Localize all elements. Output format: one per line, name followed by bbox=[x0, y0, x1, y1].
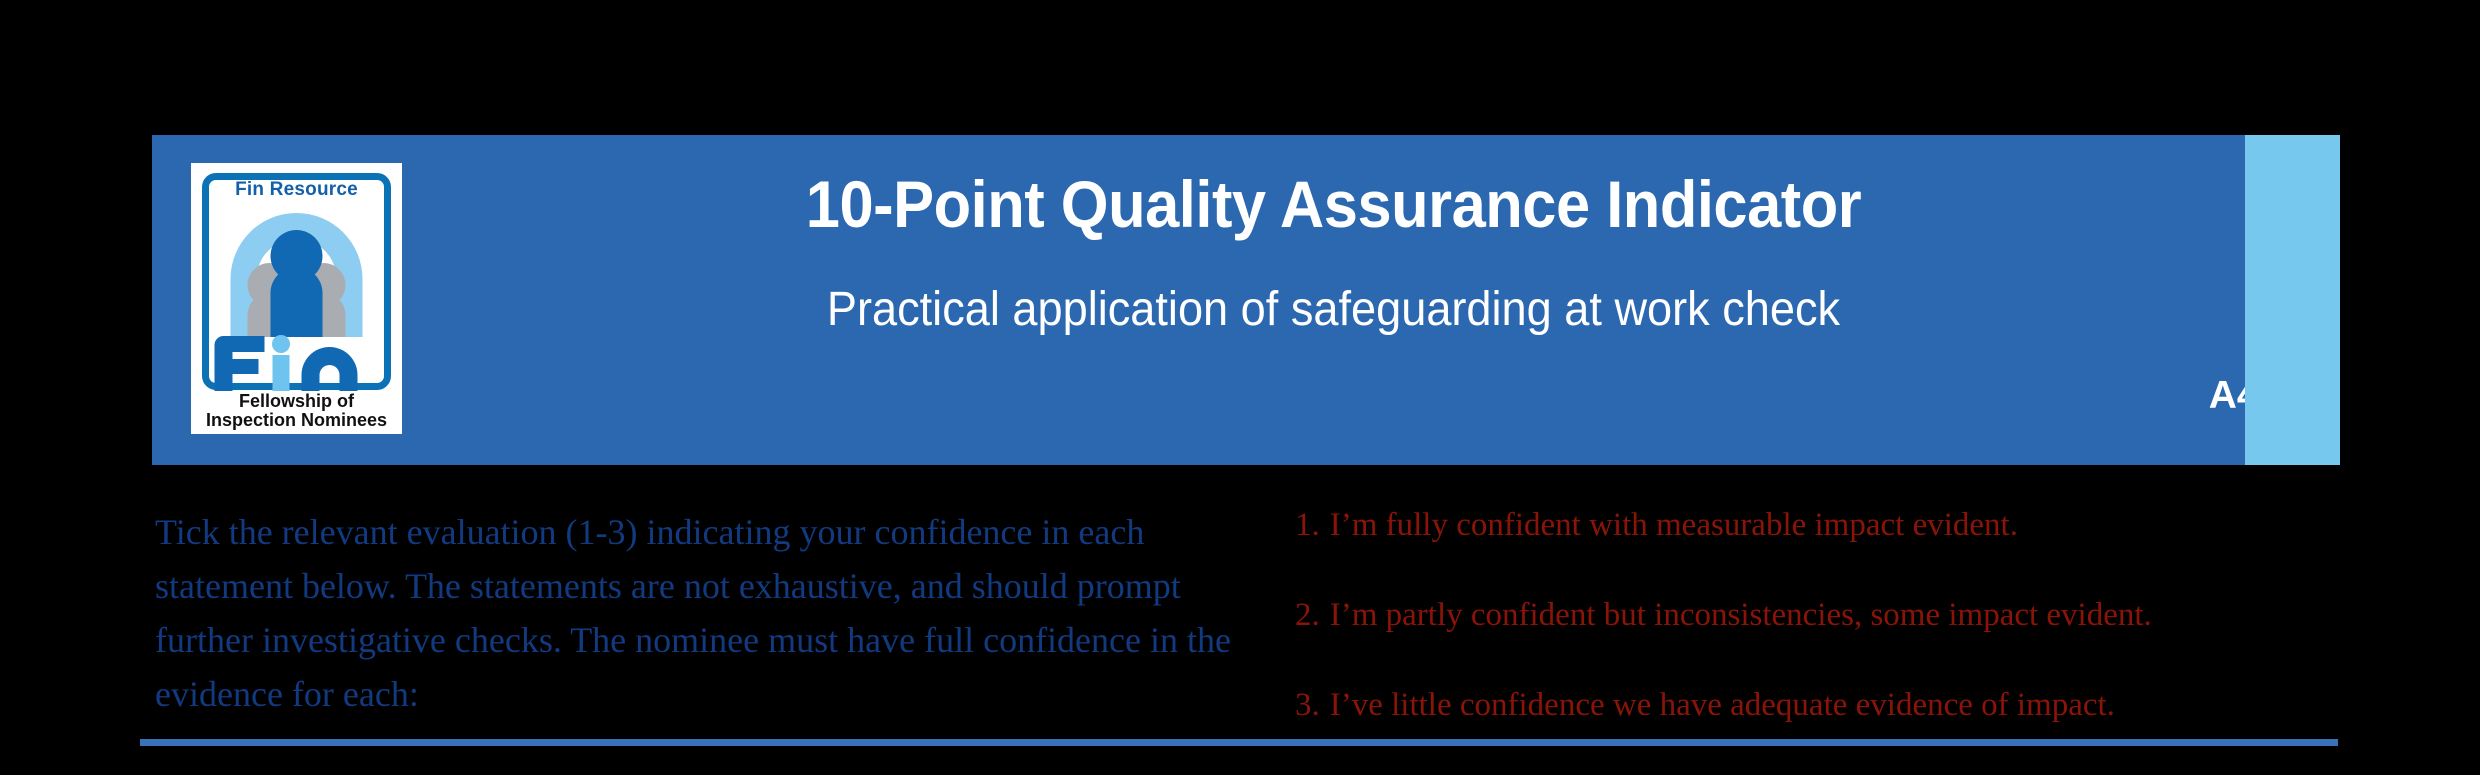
list-item: 3. I’ve little confidence we have adequa… bbox=[1295, 685, 2355, 725]
section-divider bbox=[140, 739, 2338, 746]
scale-item-text: I’m fully confident with measurable impa… bbox=[1330, 505, 2018, 545]
logo-top-label: Fin Resource bbox=[191, 179, 402, 201]
logo-footer-line-2: Inspection Nominees bbox=[191, 411, 402, 430]
scale-item-number: 3. bbox=[1295, 685, 1320, 725]
rating-scale-list: 1. I’m fully confident with measurable i… bbox=[1295, 505, 2355, 775]
logo-people-arch-icon bbox=[215, 205, 378, 337]
scale-item-text: I’m partly confident but inconsistencies… bbox=[1330, 595, 2152, 635]
logo-footer-line-1: Fellowship of bbox=[191, 392, 402, 411]
list-item: 2. I’m partly confident but inconsistenc… bbox=[1295, 595, 2355, 635]
logo-footer-text: Fellowship of Inspection Nominees bbox=[191, 392, 402, 430]
scale-item-text: I’ve little confidence we have adequate … bbox=[1330, 685, 2115, 725]
logo-wordmark-fin bbox=[191, 335, 402, 391]
header-text-block: 10-Point Quality Assurance Indicator Pra… bbox=[452, 135, 2245, 465]
page-subtitle: Practical application of safeguarding at… bbox=[505, 283, 2162, 337]
scale-item-number: 2. bbox=[1295, 595, 1320, 635]
scale-item-number: 1. bbox=[1295, 505, 1320, 545]
fin-logo: Fin Resource bbox=[191, 163, 402, 434]
page-title: 10-Point Quality Assurance Indicator bbox=[514, 168, 2154, 240]
instructions-text: Tick the relevant evaluation (1-3) indic… bbox=[155, 505, 1255, 721]
header-band: Fin Resource bbox=[152, 135, 2340, 465]
header-accent-stripe bbox=[2245, 135, 2340, 465]
list-item: 1. I’m fully confident with measurable i… bbox=[1295, 505, 2355, 545]
